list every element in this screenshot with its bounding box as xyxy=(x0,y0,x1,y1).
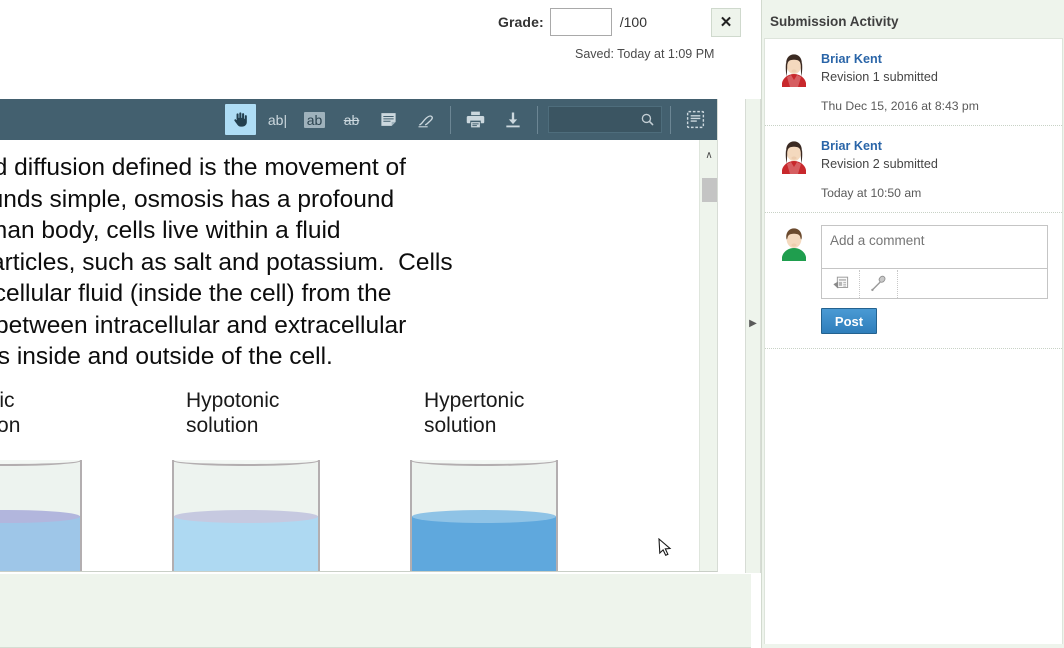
beaker-cell: Hypertonicsolution xyxy=(406,388,644,572)
hand-icon xyxy=(231,110,250,129)
activity-action-text: Revision 2 submitted xyxy=(821,155,1052,173)
grade-bar: Grade: /100 ✕ Saved: Today at 1:09 PM xyxy=(0,0,752,92)
search-icon xyxy=(639,111,656,128)
text-select-tool-button[interactable]: ab| xyxy=(262,104,293,135)
female-avatar xyxy=(777,51,811,87)
toolbar-divider-2 xyxy=(537,106,538,134)
annotation-tool-group: ab| ab ab xyxy=(222,99,444,140)
document-body-text: ater, and diffusion defined is the movem… xyxy=(0,152,700,373)
activity-timestamp: Thu Dec 15, 2016 at 8:43 pm xyxy=(821,99,1052,113)
grade-label: Grade: xyxy=(498,14,544,30)
activity-user-name[interactable]: Briar Kent xyxy=(821,138,1052,155)
comment-composer: Post xyxy=(765,213,1062,349)
beaker-rim xyxy=(172,460,320,466)
liquid-surface xyxy=(412,510,556,523)
grade-input[interactable] xyxy=(550,8,612,36)
pan-hand-tool-button[interactable] xyxy=(225,104,256,135)
liquid-surface xyxy=(174,510,318,523)
activity-item: Briar KentRevision 2 submittedToday at 1… xyxy=(765,126,1062,213)
panel-divider xyxy=(745,99,761,573)
highlight-tool-button[interactable]: ab xyxy=(299,104,330,135)
comment-input[interactable] xyxy=(821,225,1048,269)
strikethrough-tool-button[interactable]: ab xyxy=(336,104,367,135)
print-button[interactable] xyxy=(460,104,491,135)
draw-pen-tool-button[interactable] xyxy=(410,104,441,135)
beaker-glass xyxy=(410,460,558,572)
beaker-rim xyxy=(410,460,558,466)
activity-action-text: Revision 1 submitted xyxy=(821,68,1052,86)
activity-user-name[interactable]: Briar Kent xyxy=(821,51,1052,68)
highlight-icon: ab xyxy=(304,112,326,128)
main-region: Grade: /100 ✕ Saved: Today at 1:09 PM xyxy=(0,0,752,648)
grade-max-label: /100 xyxy=(620,14,647,30)
strikethrough-icon: ab xyxy=(344,113,360,127)
main-footer-area xyxy=(0,573,751,648)
sticky-note-icon xyxy=(379,110,398,129)
beaker-cell: Hypotonicsolution xyxy=(168,388,406,572)
beaker-rim xyxy=(0,460,82,466)
beaker-liquid xyxy=(0,516,80,572)
pen-icon xyxy=(416,110,436,130)
osmosis-figure: sotonicsolutionHypotonicsolutionHyperton… xyxy=(0,388,690,572)
document-viewer: ab| ab ab xyxy=(0,99,718,572)
download-icon xyxy=(503,110,523,130)
panel-title: Submission Activity xyxy=(762,14,1064,29)
toolbar-divider-1 xyxy=(450,106,451,134)
scroll-up-arrow-icon[interactable]: ∧ xyxy=(700,148,718,162)
avatar xyxy=(777,138,811,174)
microphone-icon xyxy=(869,274,888,293)
text-select-icon: ab| xyxy=(268,113,287,127)
post-comment-button[interactable]: Post xyxy=(821,308,877,334)
microphone-button[interactable] xyxy=(860,270,898,298)
sticky-note-tool-button[interactable] xyxy=(373,104,404,135)
scrollbar-thumb[interactable] xyxy=(702,178,717,202)
beaker-label: Hypertonicsolution xyxy=(424,388,644,438)
document-toolbar: ab| ab ab xyxy=(0,99,718,140)
grade-row: Grade: /100 xyxy=(498,8,647,36)
comment-toolbar xyxy=(821,269,1048,299)
beaker-label: Hypotonicsolution xyxy=(186,388,406,438)
liquid-surface xyxy=(0,510,80,523)
panel-collapse-arrow-icon[interactable]: ▶ xyxy=(745,314,761,332)
annotations-panel-icon xyxy=(685,109,706,130)
download-button[interactable] xyxy=(497,104,528,135)
printer-icon xyxy=(465,109,486,130)
annotations-panel-button[interactable] xyxy=(680,104,711,135)
saved-status-text: Saved: Today at 1:09 PM xyxy=(575,47,714,61)
document-scrollbar[interactable]: ∧ xyxy=(699,140,717,572)
document-search-box[interactable] xyxy=(548,106,662,133)
male-avatar xyxy=(777,225,811,261)
activity-timestamp: Today at 10:50 am xyxy=(821,186,1052,200)
avatar xyxy=(777,51,811,87)
beaker-glass xyxy=(0,460,82,572)
output-tool-group xyxy=(457,99,531,140)
attach-media-button[interactable] xyxy=(822,270,860,298)
activity-list: Briar KentRevision 1 submittedThu Dec 15… xyxy=(764,38,1063,644)
beaker-liquid xyxy=(174,516,318,572)
beaker-label: sotonicsolution xyxy=(0,388,168,438)
close-button[interactable]: ✕ xyxy=(711,8,741,37)
beaker-liquid xyxy=(412,516,556,572)
app-root: Grade: /100 ✕ Saved: Today at 1:09 PM xyxy=(0,0,1064,648)
toolbar-divider-3 xyxy=(670,106,671,134)
submission-activity-panel: Submission Activity Briar KentRevision 1… xyxy=(761,0,1064,648)
female-avatar xyxy=(777,138,811,174)
document-page[interactable]: ater, and diffusion defined is the movem… xyxy=(0,140,700,572)
beaker-glass xyxy=(172,460,320,572)
beaker-cell: sotonicsolution xyxy=(0,388,168,572)
activity-item: Briar KentRevision 1 submittedThu Dec 15… xyxy=(765,39,1062,126)
avatar xyxy=(777,225,811,261)
attach-media-icon xyxy=(831,274,850,293)
